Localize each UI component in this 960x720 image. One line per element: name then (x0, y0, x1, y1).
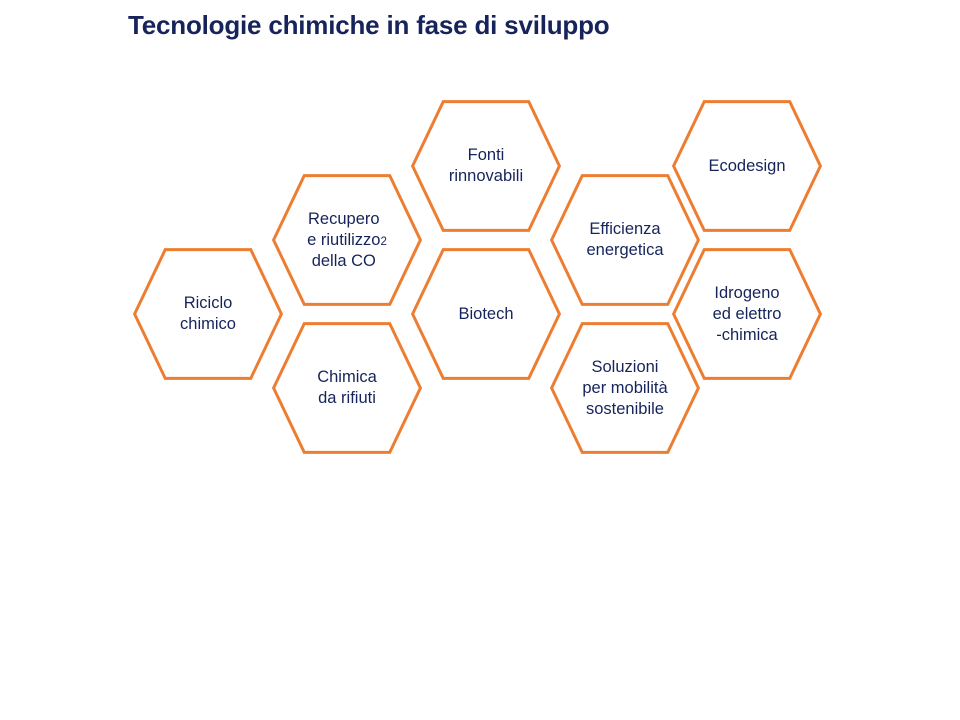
hex-label-text: Efficienza energetica (586, 219, 663, 261)
hex-label-text: Riciclo chimico (180, 293, 236, 335)
hex-label-fonti-rinnovabili: Fonti rinnovabili (411, 100, 561, 232)
hex-label-text: Soluzioni per mobilità sostenibile (582, 357, 667, 420)
hex-label-text: Fonti rinnovabili (449, 145, 523, 187)
hex-cell-fonti-rinnovabili[interactable]: Fonti rinnovabili (411, 100, 561, 232)
hex-label-biotech: Biotech (411, 248, 561, 380)
hex-cell-biotech[interactable]: Biotech (411, 248, 561, 380)
hex-label-text: Ecodesign (708, 156, 785, 177)
hex-label-text: Biotech (458, 304, 513, 325)
hex-cell-idrogeno-elettrochimica[interactable]: Idrogeno ed elettro -chimica (672, 248, 822, 380)
hex-label-text: Idrogeno ed elettro -chimica (713, 283, 782, 346)
hex-cell-recupero-co2[interactable]: Recupero e riutilizzo della CO2 (272, 174, 422, 306)
hex-label-text: Recupero e riutilizzo della CO (307, 209, 380, 272)
slide-canvas: Tecnologie chimiche in fase di sviluppo … (0, 0, 960, 720)
hex-cell-ecodesign[interactable]: Ecodesign (672, 100, 822, 232)
hex-label-text: Chimica da rifiuti (317, 367, 377, 409)
hex-label-chimica-da-rifiuti: Chimica da rifiuti (272, 322, 422, 454)
honeycomb-diagram: Riciclo chimicoRecupero e riutilizzo del… (0, 0, 960, 720)
hex-label-subscript: 2 (380, 232, 386, 253)
hex-label-idrogeno-elettrochimica: Idrogeno ed elettro -chimica (672, 248, 822, 380)
hex-label-ecodesign: Ecodesign (672, 100, 822, 232)
hex-cell-chimica-da-rifiuti[interactable]: Chimica da rifiuti (272, 322, 422, 454)
hex-label-riciclo-chimico: Riciclo chimico (133, 248, 283, 380)
hex-cell-riciclo-chimico[interactable]: Riciclo chimico (133, 248, 283, 380)
hex-label-recupero-co2: Recupero e riutilizzo della CO2 (272, 174, 422, 306)
